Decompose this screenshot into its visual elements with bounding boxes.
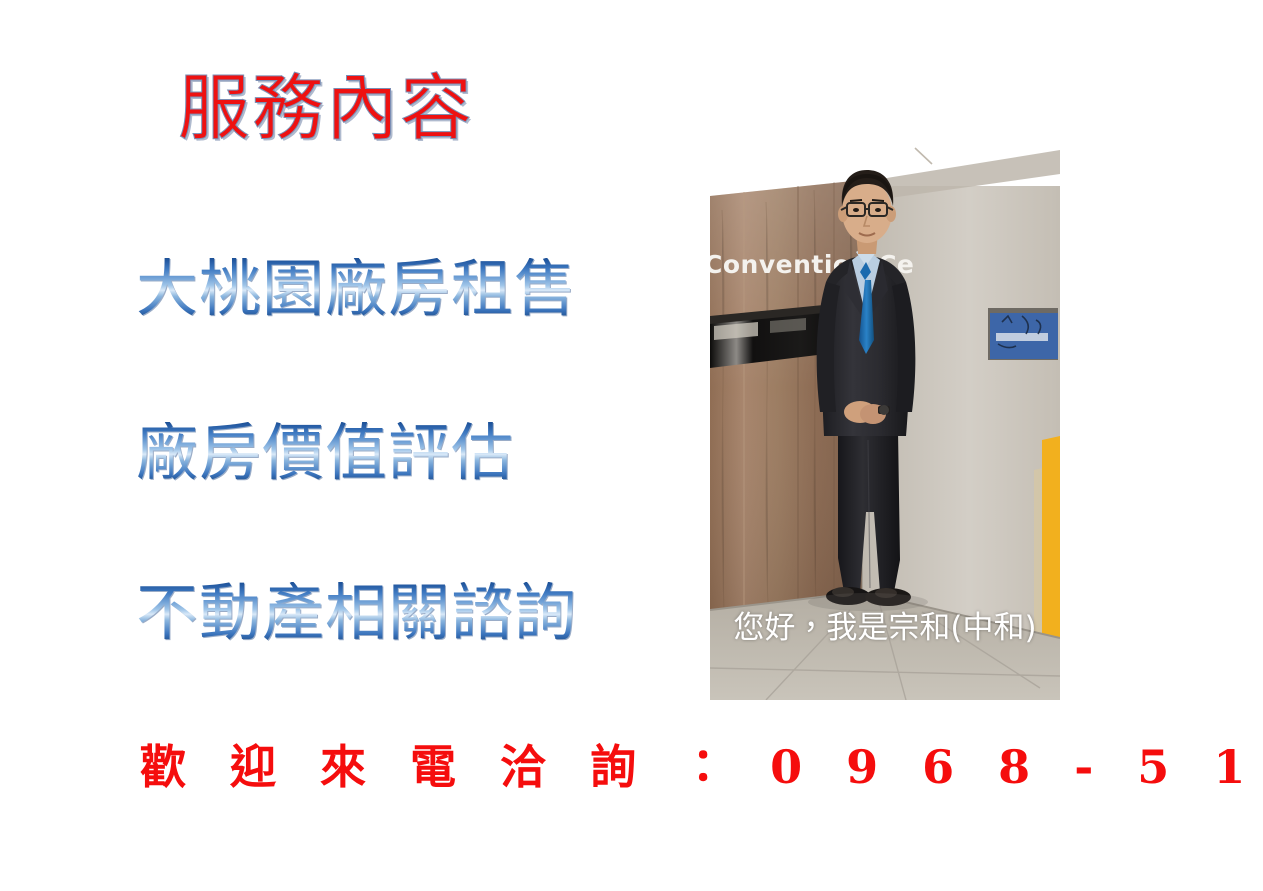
call-to-action-phone: 歡 迎 來 電 洽 詢 ： 0 9 6 8 - 5 1 9 - 8 8 8: [140, 744, 1263, 790]
service-item-3: 不動產相關諮詢: [136, 582, 577, 644]
photo-caption: 您好，我是宗和(中和): [710, 612, 1060, 645]
service-item-1: 大桃園廠房租售: [136, 258, 577, 320]
agent-photo: Convention Ce: [710, 140, 1060, 700]
service-item-2: 廠房價值評估: [136, 422, 514, 484]
page-title: 服務內容: [178, 72, 474, 144]
slide-canvas: 服務內容 大桃園廠房租售 廠房價值評估 不動產相關諮詢 歡 迎 來 電 洽 詢 …: [0, 0, 1263, 891]
